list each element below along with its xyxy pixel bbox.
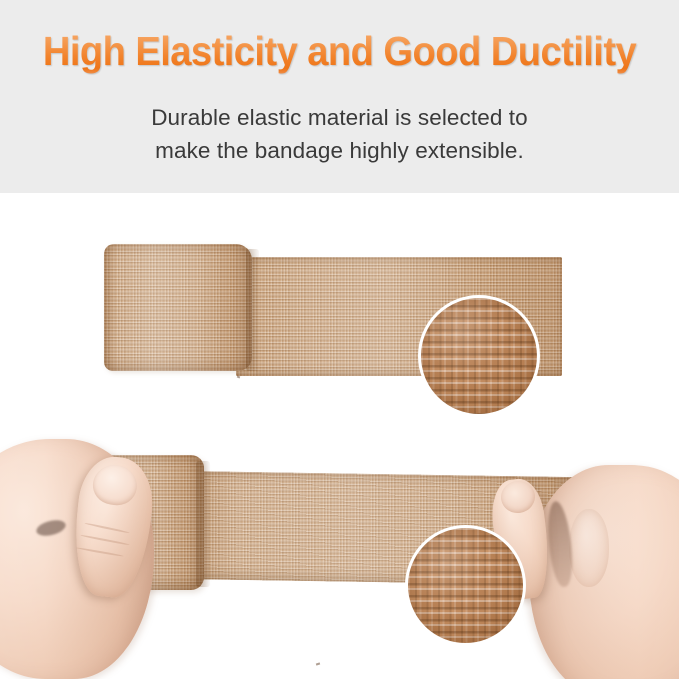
right-hand-knuckles <box>569 509 609 587</box>
subtitle-line-2: make the bandage highly extensible. <box>0 134 679 167</box>
subtitle: Durable elastic material is selected to … <box>0 101 679 167</box>
bandage-stretch-photo <box>0 417 679 679</box>
texture-magnifier-circle <box>418 295 540 417</box>
roll-seam-shadow <box>196 461 210 587</box>
page-title: High Elasticity and Good Ductility <box>24 28 655 74</box>
bandage-roll-photo <box>0 193 679 417</box>
header-banner: High Elasticity and Good Ductility Durab… <box>0 0 679 193</box>
stray-fibre <box>316 662 320 665</box>
roll-seam-shadow <box>246 249 259 371</box>
stray-fibre <box>237 376 241 379</box>
bandage-roll <box>104 244 252 371</box>
subtitle-line-1: Durable elastic material is selected to <box>0 101 679 134</box>
texture-magnifier-circle <box>405 525 526 646</box>
